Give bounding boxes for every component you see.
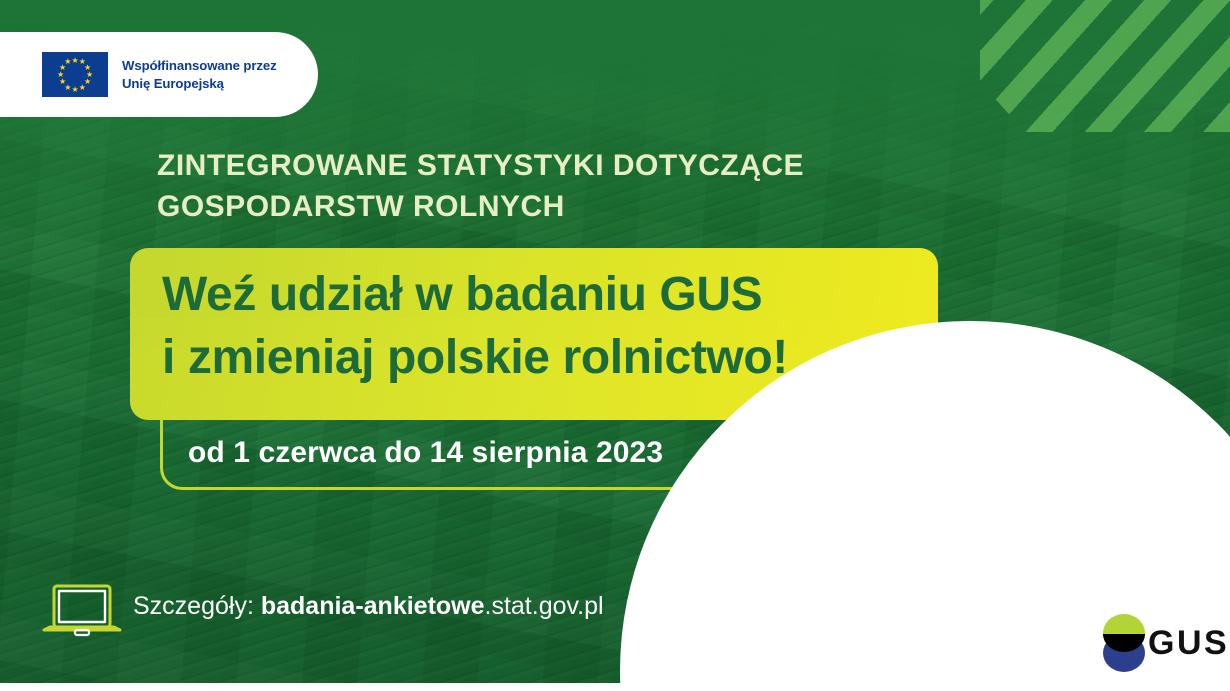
gus-wordmark: GUS bbox=[1148, 624, 1229, 663]
headline-line1: Weź udział w badaniu GUS bbox=[162, 264, 962, 327]
eu-star-icon: ★ bbox=[72, 86, 79, 93]
date-range-text: od 1 czerwca do 14 sierpnia 2023 bbox=[188, 436, 663, 470]
gus-logo: GUS bbox=[1103, 614, 1229, 672]
eu-star-icon: ★ bbox=[57, 71, 64, 78]
gus-circles-icon bbox=[1103, 614, 1145, 672]
kicker-line1: ZINTEGROWANE STATYSTYKI DOTYCZĄCE bbox=[157, 145, 957, 186]
eu-funding-line2: Unię Europejską bbox=[122, 75, 277, 93]
laptop-icon bbox=[42, 583, 122, 641]
details-domain: badania-ankietowe bbox=[261, 592, 485, 620]
kicker-line2: GOSPODARSTW ROLNYCH bbox=[157, 186, 957, 227]
eu-funding-badge: ★★★★★★★★★★★★ Współfinansowane przez Unię… bbox=[0, 32, 318, 117]
campaign-poster: ★★★★★★★★★★★★ Współfinansowane przez Unię… bbox=[0, 0, 1230, 691]
eu-star-icon: ★ bbox=[59, 78, 66, 85]
eu-star-icon: ★ bbox=[64, 58, 71, 65]
eu-star-icon: ★ bbox=[72, 57, 79, 64]
eu-funding-label: Współfinansowane przez Unię Europejską bbox=[122, 57, 277, 92]
page-title: ZINTEGROWANE STATYSTYKI DOTYCZĄCE GOSPOD… bbox=[157, 145, 957, 228]
details-line: Szczegóły: badania-ankietowe.stat.gov.pl bbox=[133, 592, 604, 621]
white-bottom-strip bbox=[0, 683, 1230, 691]
details-suffix: .stat.gov.pl bbox=[485, 592, 604, 620]
eu-star-icon: ★ bbox=[79, 84, 86, 91]
eu-funding-line1: Współfinansowane przez bbox=[122, 57, 277, 75]
eu-flag-icon: ★★★★★★★★★★★★ bbox=[42, 52, 108, 97]
diagonal-stripes-decor bbox=[980, 0, 1230, 132]
details-prefix: Szczegóły: bbox=[133, 592, 261, 620]
